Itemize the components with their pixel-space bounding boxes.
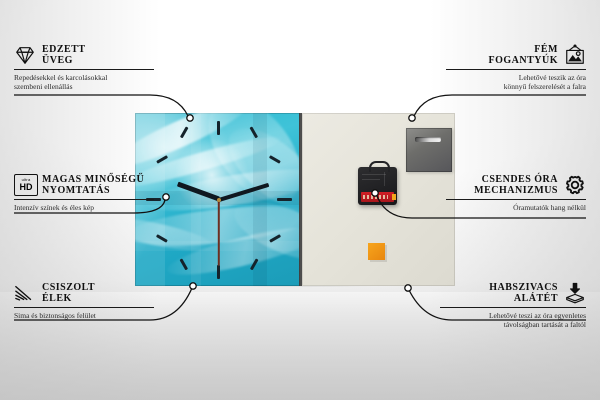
callout-title-line2: ÜVEG [42, 55, 73, 66]
clock-marker [180, 258, 188, 270]
polished-edges-icon [14, 282, 36, 304]
clock-back-panel [302, 113, 455, 286]
diamond-icon [14, 44, 36, 66]
callout-high-quality-print[interactable]: ultra HD MAGAS MINŐSÉGŰ NYOMTATÁS Intenz… [14, 174, 154, 212]
clock-marker [269, 234, 281, 242]
callout-title-line2: ALÁTÉT [514, 293, 558, 304]
callout-rule [14, 199, 154, 200]
clock-marker [180, 126, 188, 138]
callout-subtitle-line2: szembeni ellenállás [14, 82, 73, 91]
callout-rule [440, 307, 586, 308]
callout-rule [14, 69, 154, 70]
ultra-hd-icon-big-text: HD [20, 183, 33, 192]
callout-title-line2: FOGANTYÚK [489, 55, 559, 66]
callout-foam-pad[interactable]: HABSZIVACS ALÁTÉT Lehetővé teszi az óra … [440, 282, 586, 329]
clock-face [135, 113, 302, 286]
callout-rule [446, 69, 586, 70]
battery-label [363, 195, 388, 199]
callout-title-line1: CSISZOLT [42, 282, 95, 293]
callout-title-line2: NYOMTATÁS [42, 185, 110, 196]
hanger-slot [415, 137, 441, 142]
callout-subtitle-line1: Óramutatók hang nélkül [513, 203, 586, 212]
callout-subtitle-line1: Sima és biztonságos felület [14, 311, 96, 320]
callout-tempered-glass[interactable]: EDZETT ÜVEG Repedésekkel és karcolásokka… [14, 44, 154, 91]
clock-marker [217, 265, 220, 279]
clock-marker [250, 258, 258, 270]
callout-polished-edges[interactable]: CSISZOLT ÉLEK Sima és biztonságos felüle… [14, 282, 154, 320]
battery [361, 192, 394, 202]
callout-subtitle-line1: Lehetővé teszik az óra [519, 73, 586, 82]
callout-title-line1: HABSZIVACS [489, 282, 558, 293]
callout-subtitle-line1: Intenzív színek és éles kép [14, 203, 94, 212]
ultra-hd-icon: ultra HD [14, 174, 36, 196]
gear-icon [564, 174, 586, 196]
clock-minute-hand [218, 182, 269, 201]
callout-subtitle-line1: Repedésekkel és karcolásokkal [14, 73, 107, 82]
callout-subtitle-line2: távolságban tartását a faltól [504, 320, 586, 329]
callout-metal-handles[interactable]: FÉM FOGANTYÚK Lehetővé teszik az óra kön… [446, 44, 586, 91]
clock-center-pivot [217, 198, 221, 202]
clock-marker [156, 234, 168, 242]
foam-pad [368, 243, 385, 260]
clock-marker [217, 121, 220, 135]
callout-subtitle-line2: könnyű felszerelését a falra [504, 82, 586, 91]
clock-mechanism-box [358, 167, 397, 205]
screenshot-stage: EDZETT ÜVEG Repedésekkel és karcolásokka… [0, 0, 600, 400]
clock-hour-hand [176, 182, 219, 201]
mechanism-hanger-loop [369, 161, 390, 172]
callout-title-line2: MECHANIZMUS [474, 185, 558, 196]
callout-subtitle-line1: Lehetővé teszi az óra egyenletes [489, 311, 586, 320]
callout-title-line1: MAGAS MINŐSÉGŰ [42, 174, 144, 185]
battery-tip [392, 194, 396, 200]
clock-second-hand [218, 200, 220, 266]
callout-rule [446, 199, 586, 200]
callout-silent-mechanism[interactable]: CSENDES ÓRA MECHANIZMUS Óramutatók hang … [446, 174, 586, 212]
down-arrow-pad-icon [564, 282, 586, 304]
clock-marker [156, 155, 168, 163]
callout-rule [14, 307, 154, 308]
clock-front-panel [135, 113, 302, 286]
callout-title-line2: ÉLEK [42, 293, 72, 304]
callout-title-line1: EDZETT [42, 44, 86, 55]
metal-hanger-plate [406, 128, 452, 172]
callout-title-line1: CSENDES ÓRA [482, 174, 558, 185]
hanging-picture-icon [564, 44, 586, 66]
clock-marker [277, 198, 292, 201]
callout-title-line1: FÉM [534, 44, 558, 55]
clock-marker [269, 155, 281, 163]
clock-marker [250, 126, 258, 138]
product-image [135, 113, 455, 286]
